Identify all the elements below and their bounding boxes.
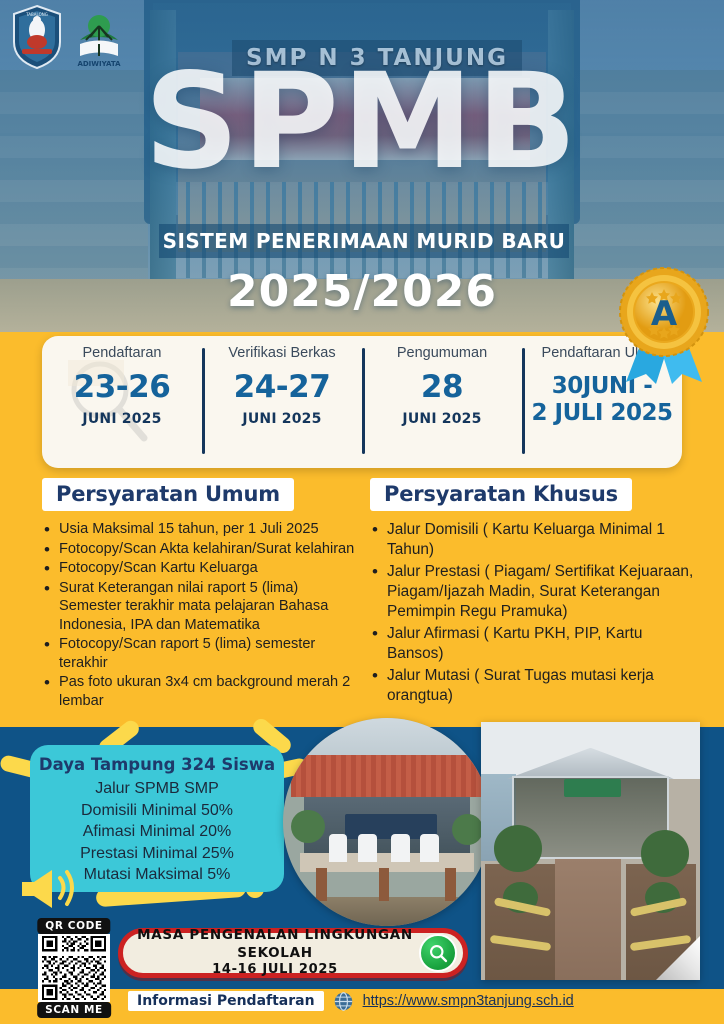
timeline-label: Pengumuman bbox=[397, 345, 487, 361]
general-requirements: Persyaratan Umum Usia Maksimal 15 tahun,… bbox=[42, 478, 364, 711]
list-item: Jalur Prestasi ( Piagam/ Sertifikat Keju… bbox=[370, 562, 700, 622]
subtitle-text: SISTEM PENERIMAAN MURID BARU bbox=[163, 229, 566, 253]
general-requirements-heading: Persyaratan Umum bbox=[42, 478, 294, 511]
special-requirements-list: Jalur Domisili ( Kartu Keluarga Minimal … bbox=[370, 520, 700, 706]
globe-icon bbox=[333, 991, 354, 1012]
adiwiyata-wordmark: ADIWIYATA bbox=[77, 60, 121, 68]
subtitle-band: SISTEM PENERIMAAN MURID BARU bbox=[159, 224, 569, 258]
website-link[interactable]: https://www.smpn3tanjung.sch.id bbox=[363, 993, 574, 1009]
timeline-month: JUNI 2025 bbox=[242, 411, 321, 427]
quota-title: Daya Tampung 324 Siswa bbox=[39, 755, 275, 774]
list-item: Fotocopy/Scan Akta kelahiran/Surat kelah… bbox=[42, 540, 364, 559]
timeline-date: 23-26 bbox=[74, 372, 171, 403]
list-item: Jalur Afirmasi ( Kartu PKH, PIP, Kartu B… bbox=[370, 624, 700, 664]
timeline-col-pengumuman: Pengumuman 28 JUNI 2025 bbox=[362, 336, 522, 468]
quota-line: Jalur SPMB SMP bbox=[95, 778, 219, 800]
list-item: Usia Maksimal 15 tahun, per 1 Juli 2025 bbox=[42, 520, 364, 539]
special-requirements-heading: Persyaratan Khusus bbox=[370, 478, 632, 511]
quota-line: Afimasi Minimal 20% bbox=[83, 821, 231, 843]
mpls-line-2: 14-16 JULI 2025 bbox=[123, 962, 427, 979]
kabupaten-tabalong-emblem-icon: TABALONG bbox=[10, 4, 64, 70]
mpls-line-1: MASA PENGENALAN LINGKUNGAN SEKOLAH bbox=[123, 927, 427, 962]
timeline-card: Pendaftaran 23-26 JUNI 2025 Verifikasi B… bbox=[42, 336, 682, 468]
timeline-month: JUNI 2025 bbox=[82, 411, 161, 427]
students-reading-corner-photo bbox=[283, 718, 491, 926]
accreditation-badge-icon: A bbox=[612, 262, 716, 384]
school-green-house-garden-photo bbox=[481, 722, 700, 980]
qr-code-bottom-label: SCAN ME bbox=[37, 1002, 111, 1018]
adiwiyata-logo-icon: ADIWIYATA bbox=[72, 4, 126, 70]
registration-info-row: Informasi Pendaftaran https://www.smpn3t… bbox=[128, 988, 574, 1014]
mpls-text: MASA PENGENALAN LINGKUNGAN SEKOLAH 14-16… bbox=[123, 927, 427, 979]
quota-line: Domisili Minimal 50% bbox=[81, 800, 233, 822]
quota-line: Prestasi Minimal 25% bbox=[80, 843, 234, 865]
list-item: Jalur Domisili ( Kartu Keluarga Minimal … bbox=[370, 520, 700, 560]
general-requirements-list: Usia Maksimal 15 tahun, per 1 Juli 2025 … bbox=[42, 520, 364, 710]
megaphone-icon bbox=[18, 860, 80, 914]
spmb-poster: SMP N 3 TANJUNG TABALONG ADIWIYATA bbox=[0, 0, 724, 1024]
special-requirements: Persyaratan Khusus Jalur Domisili ( Kart… bbox=[370, 478, 700, 708]
timeline-label: Pendaftaran bbox=[82, 345, 161, 361]
timeline-col-pendaftaran: Pendaftaran 23-26 JUNI 2025 bbox=[42, 336, 202, 468]
accreditation-letter: A bbox=[651, 294, 678, 334]
list-item: Fotocopy/Scan raport 5 (lima) semester t… bbox=[42, 635, 364, 672]
info-label: Informasi Pendaftaran bbox=[128, 991, 324, 1011]
logo-group: TABALONG ADIWIYATA bbox=[10, 4, 126, 70]
timeline-date: 28 bbox=[421, 372, 463, 403]
list-item: Jalur Mutasi ( Surat Tugas mutasi kerja … bbox=[370, 666, 700, 706]
timeline-date: 24-27 bbox=[234, 372, 331, 403]
requirements-section: Persyaratan Umum Usia Maksimal 15 tahun,… bbox=[0, 478, 724, 728]
search-icon[interactable] bbox=[419, 934, 457, 972]
timeline-month: JUNI 2025 bbox=[402, 411, 481, 427]
mpls-banner: MASA PENGENALAN LINGKUNGAN SEKOLAH 14-16… bbox=[118, 928, 468, 978]
timeline-label: Verifikasi Berkas bbox=[228, 345, 335, 361]
list-item: Fotocopy/Scan Kartu Keluarga bbox=[42, 559, 364, 578]
timeline-col-verifikasi: Verifikasi Berkas 24-27 JUNI 2025 bbox=[202, 336, 362, 468]
page-title: SPMB bbox=[0, 60, 724, 185]
list-item: Pas foto ukuran 3x4 cm background merah … bbox=[42, 673, 364, 710]
quota-line: Mutasi Maksimal 5% bbox=[84, 864, 231, 886]
qr-code-image[interactable] bbox=[38, 934, 110, 1002]
qr-code-block[interactable]: QR CODE bbox=[28, 918, 120, 1018]
qr-code-top-label: QR CODE bbox=[37, 918, 110, 934]
svg-text:TABALONG: TABALONG bbox=[25, 12, 48, 17]
list-item: Surat Keterangan nilai raport 5 (lima) S… bbox=[42, 579, 364, 635]
